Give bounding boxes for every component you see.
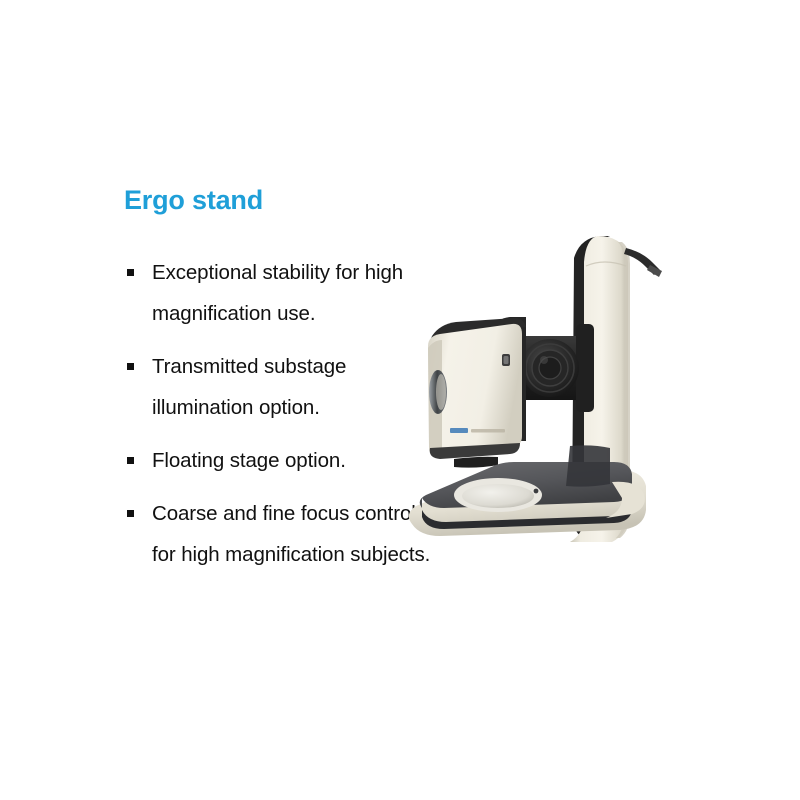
bullet-square-icon bbox=[127, 510, 134, 517]
list-item-text: Transmitted substage illumination option… bbox=[152, 355, 346, 419]
feature-bullet-list: Exceptional stability for high magnifica… bbox=[124, 252, 434, 575]
product-photo-microscope bbox=[398, 232, 694, 562]
list-item: Floating stage option. bbox=[124, 440, 434, 481]
page-title: Ergo stand bbox=[124, 186, 434, 216]
list-item: Coarse and fine focus control for high m… bbox=[124, 493, 434, 575]
bullet-square-icon bbox=[127, 269, 134, 276]
bullet-square-icon bbox=[127, 363, 134, 370]
list-item-text: Exceptional stability for high magnifica… bbox=[152, 261, 403, 325]
list-item-text: Coarse and fine focus control for high m… bbox=[152, 502, 430, 566]
list-item: Exceptional stability for high magnifica… bbox=[124, 252, 434, 334]
text-column: Ergo stand Exceptional stability for hig… bbox=[124, 186, 434, 575]
slide-canvas: Ergo stand Exceptional stability for hig… bbox=[0, 0, 800, 800]
bullet-square-icon bbox=[127, 457, 134, 464]
list-item-text: Floating stage option. bbox=[152, 449, 346, 472]
list-item: Transmitted substage illumination option… bbox=[124, 346, 434, 428]
microscope-head-group bbox=[428, 317, 526, 468]
